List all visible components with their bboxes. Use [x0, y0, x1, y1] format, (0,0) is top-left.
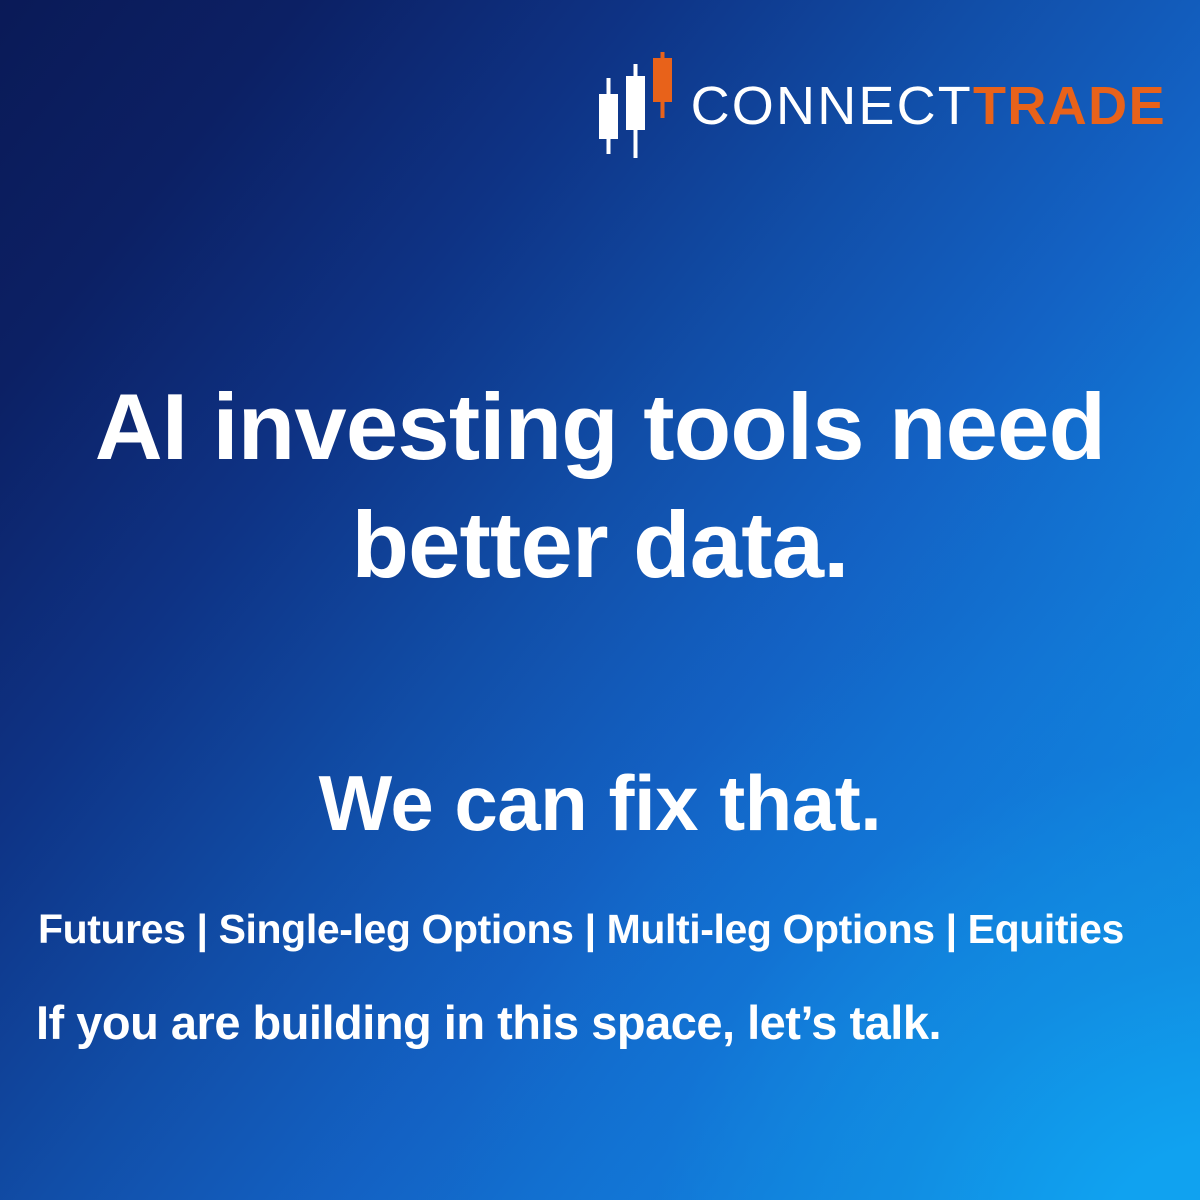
headline-line-1: AI investing tools need — [46, 368, 1154, 486]
brand-wordmark-trade: TRADE — [973, 79, 1166, 133]
brand-wordmark-connect: CONNECT — [691, 79, 973, 133]
headline: AI investing tools need better data. — [46, 368, 1154, 605]
promotional-graphic: CONNECTTRADE AI investing tools need bet… — [0, 0, 1200, 1200]
brand-logo[interactable]: CONNECTTRADE — [593, 52, 1166, 160]
call-to-action-text: If you are building in this space, let’s… — [36, 995, 1170, 1051]
asset-classes-list: Futures | Single-leg Options | Multi-leg… — [38, 905, 1168, 954]
candlestick-chart-mark-icon — [593, 52, 677, 160]
brand-wordmark: CONNECTTRADE — [691, 79, 1166, 133]
headline-line-2: better data. — [46, 486, 1154, 604]
subheadline: We can fix that. — [46, 757, 1154, 851]
